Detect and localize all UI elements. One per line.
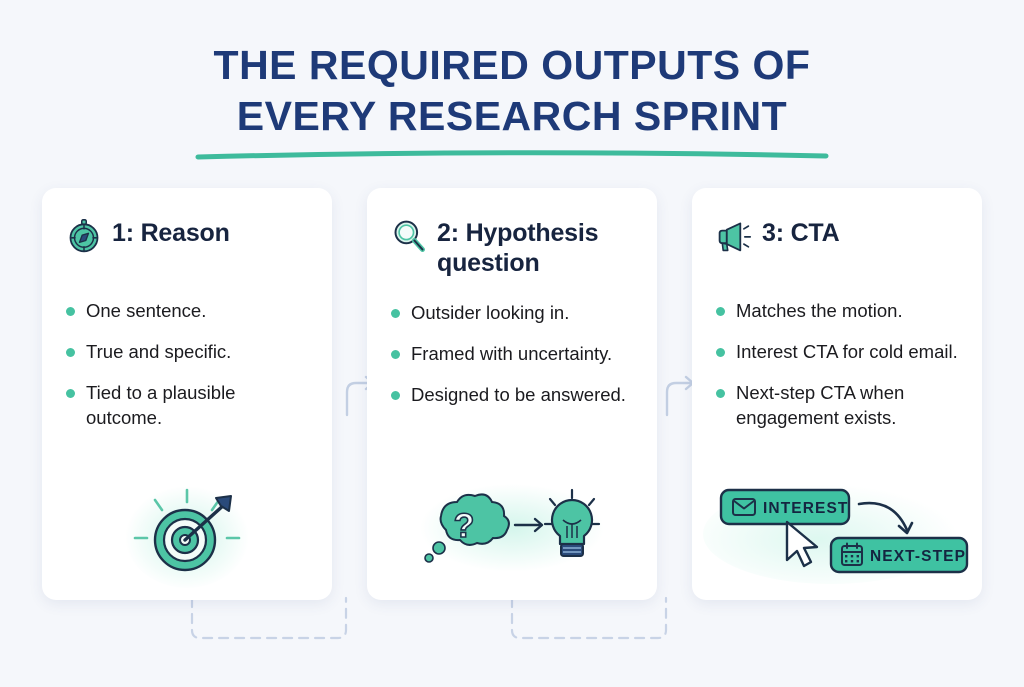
- target-arrow-illustration: [42, 478, 332, 590]
- cards-row: 1: Reason One sentence. True and specifi…: [42, 188, 982, 600]
- card-header: 2: Hypothesis question: [391, 216, 633, 278]
- list-item: One sentence.: [66, 298, 308, 323]
- bullet-text: Designed to be answered.: [411, 382, 626, 407]
- cta-buttons-illustration: INTEREST: [692, 478, 982, 586]
- card-header: 1: Reason: [66, 216, 308, 276]
- card-hypothesis-question[interactable]: 2: Hypothesis question Outsider looking …: [367, 188, 657, 600]
- question-cloud-to-lightbulb-illustration: ?: [367, 480, 657, 576]
- card-cta[interactable]: 3: CTA Matches the motion. Interest CTA …: [692, 188, 982, 600]
- list-item: Interest CTA for cold email.: [716, 339, 958, 364]
- page-title-line-1: THE REQUIRED OUTPUTS OF: [0, 40, 1024, 91]
- bullet-list: One sentence. True and specific. Tied to…: [66, 298, 308, 430]
- card-title: 2: Hypothesis question: [437, 216, 633, 278]
- page-title-line-2: EVERY RESEARCH SPRINT: [0, 91, 1024, 142]
- cta-button-interest: INTEREST: [721, 490, 849, 524]
- bullet-text: Next-step CTA when engagement exists.: [736, 380, 958, 430]
- bullet-list: Matches the motion. Interest CTA for col…: [716, 298, 958, 430]
- bullet-text: One sentence.: [86, 298, 206, 323]
- cta-label-interest: INTEREST: [763, 500, 848, 517]
- card-title: 3: CTA: [762, 216, 840, 248]
- bullet-text: Tied to a plausible outcome.: [86, 380, 308, 430]
- list-item: True and specific.: [66, 339, 308, 364]
- bullet-dot-icon: [66, 348, 75, 357]
- list-item: Matches the motion.: [716, 298, 958, 323]
- card-reason[interactable]: 1: Reason One sentence. True and specifi…: [42, 188, 332, 600]
- bullet-dot-icon: [716, 307, 725, 316]
- bullet-dot-icon: [66, 307, 75, 316]
- compass-icon: [66, 218, 102, 254]
- svg-text:?: ?: [454, 507, 475, 545]
- list-item: Framed with uncertainty.: [391, 341, 633, 366]
- cta-button-next-step: NEXT-STEP: [831, 538, 967, 572]
- list-item: Next-step CTA when engagement exists.: [716, 380, 958, 430]
- bullet-text: Framed with uncertainty.: [411, 341, 612, 366]
- megaphone-icon: [716, 218, 752, 254]
- page-title: THE REQUIRED OUTPUTS OF EVERY RESEARCH S…: [0, 40, 1024, 160]
- bullet-dot-icon: [716, 389, 725, 398]
- magnifying-glass-icon: [391, 218, 427, 254]
- card-header: 3: CTA: [716, 216, 958, 276]
- title-underline: [194, 148, 830, 160]
- bullet-dot-icon: [391, 309, 400, 318]
- bullet-list: Outsider looking in. Framed with uncerta…: [391, 300, 633, 407]
- list-item: Tied to a plausible outcome.: [66, 380, 308, 430]
- bullet-dot-icon: [391, 391, 400, 400]
- bullet-text: Outsider looking in.: [411, 300, 569, 325]
- bullet-text: Interest CTA for cold email.: [736, 339, 958, 364]
- cta-label-next-step: NEXT-STEP: [870, 548, 966, 565]
- bullet-text: True and specific.: [86, 339, 231, 364]
- list-item: Outsider looking in.: [391, 300, 633, 325]
- list-item: Designed to be answered.: [391, 382, 633, 407]
- card-title: 1: Reason: [112, 216, 230, 248]
- bullet-text: Matches the motion.: [736, 298, 903, 323]
- bullet-dot-icon: [66, 389, 75, 398]
- bullet-dot-icon: [716, 348, 725, 357]
- bullet-dot-icon: [391, 350, 400, 359]
